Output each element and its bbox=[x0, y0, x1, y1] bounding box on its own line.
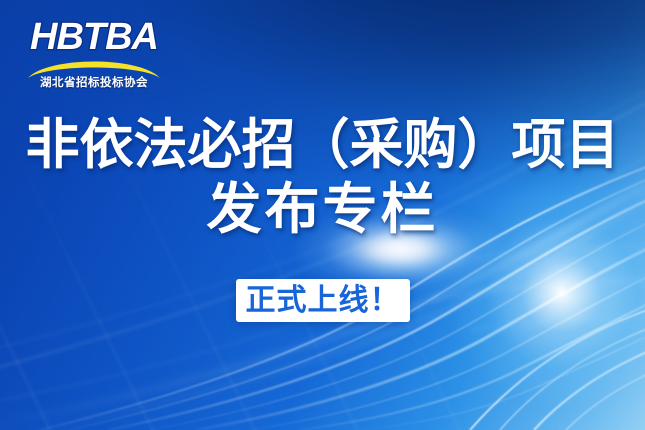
promo-banner: HBTBA 湖北省招标投标协会 非依法必招（采购）项目 发布专栏 正式上线！ bbox=[0, 0, 645, 430]
headline-line-2: 发布专栏 bbox=[0, 177, 645, 241]
banner-headline: 非依法必招（采购）项目 发布专栏 bbox=[0, 113, 645, 241]
headline-line-1: 非依法必招（采购）项目 bbox=[0, 113, 645, 177]
launch-status-badge: 正式上线！ bbox=[236, 279, 410, 322]
logo-subtitle: 湖北省招标投标协会 bbox=[24, 74, 164, 90]
launch-status-badge-label: 正式上线！ bbox=[246, 279, 401, 322]
hbtba-logo: HBTBA 湖北省招标投标协会 bbox=[24, 14, 164, 88]
